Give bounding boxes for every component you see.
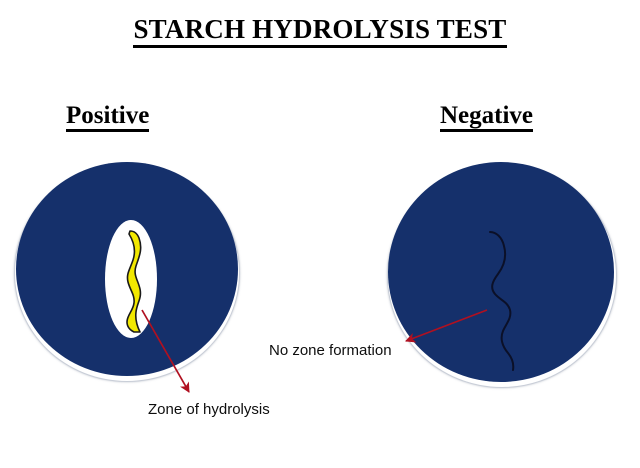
panel-label-positive: Positive (66, 102, 149, 130)
panel-label-positive-text: Positive (66, 102, 149, 132)
panel-label-negative-text: Negative (440, 102, 533, 132)
petri-dish-positive (10, 156, 250, 388)
diagram-canvas: STARCH HYDROLYSIS TEST Positive Negative (0, 0, 640, 468)
annotation-zone-of-hydrolysis: Zone of hydrolysis (148, 401, 270, 418)
bacterial-streak-positive (10, 156, 250, 388)
panel-label-negative: Negative (440, 102, 533, 130)
annotation-no-zone-formation: No zone formation (269, 342, 392, 359)
page-title: STARCH HYDROLYSIS TEST (0, 14, 640, 45)
petri-dish-negative (382, 156, 624, 394)
page-title-text: STARCH HYDROLYSIS TEST (133, 14, 506, 48)
bacterial-streak-negative (382, 156, 624, 394)
